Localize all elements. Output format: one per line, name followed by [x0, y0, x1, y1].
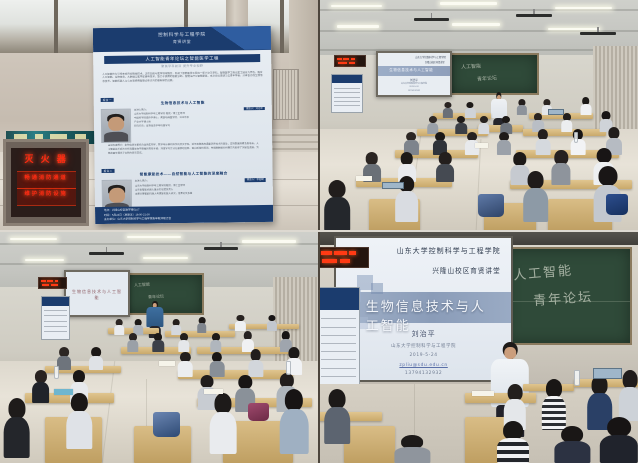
- notebook: [356, 176, 372, 182]
- slide-phone: 13794132932: [378, 90, 451, 92]
- ceiling-beam: [0, 263, 318, 265]
- bio-label: 主讲人简介：: [135, 179, 149, 183]
- fire-sign-title: 灭 火 器: [11, 152, 81, 165]
- notebook: [475, 143, 488, 148]
- student: [280, 389, 309, 454]
- ceiling-light: [440, 2, 498, 5]
- ceiling-light: [143, 257, 188, 260]
- student: [127, 333, 138, 352]
- poster-title: 人工智能青年论坛之智能医学工程: [104, 54, 261, 64]
- student: [210, 393, 237, 453]
- ceiling-light: [337, 25, 379, 28]
- projection-screen: 山东大学控制科学与工程学院 兴隆山校区育贤讲堂 生物信息技术与人工智能 刘治平 …: [376, 51, 453, 97]
- bio-line: 研究方向：生物信息学与机器学习: [134, 123, 265, 128]
- ceiling-beam: [318, 9, 638, 11]
- event-poster: 控制科学与工程学院 育贤讲堂 人工智能青年论坛之智能医学工程 聚焦学科前沿 提升…: [93, 25, 273, 224]
- notebook: [159, 361, 175, 366]
- water-bottle: [54, 366, 59, 380]
- student: [497, 132, 511, 155]
- body-text: 生物信息学是综合运用生物学、数学与计算机科学的交叉学科，近年来随着高通量测序技术…: [108, 142, 259, 154]
- section-tag: 报告二: [101, 168, 114, 172]
- slide-title: 生物信息技术与人工智能: [72, 289, 122, 296]
- blackboard-line1: 人工智能: [134, 282, 150, 289]
- blackboard-line2: 青年论坛: [148, 293, 164, 300]
- blackboard-line2: 青年论坛: [477, 74, 497, 82]
- poster-header: 控制科学与工程学院 育贤讲堂: [93, 25, 271, 51]
- student: [395, 435, 430, 463]
- student: [235, 315, 245, 331]
- ceiling-beam: [0, 243, 318, 245]
- ceiling-light: [127, 236, 181, 239]
- seat-back: [344, 426, 395, 463]
- student: [536, 129, 551, 154]
- slide-org-line2: 兴隆山校区育贤讲堂: [432, 265, 500, 275]
- fire-sign-line2: 维护消防设施: [17, 190, 76, 197]
- fire-extinguisher-cabinet: 灭 火 器 畅通消防通道 维护消防设施: [3, 139, 89, 227]
- poster-section: 报告一 生物信息技术与人工智能 主讲人简介： 报告人：刘治平 山东大学控制科学与…: [100, 85, 265, 155]
- ceiling-beam: [318, 49, 638, 51]
- led-row: 畅通消防通道: [17, 171, 76, 189]
- student: [436, 152, 454, 182]
- wall-poster: [318, 287, 360, 391]
- notebook: [472, 391, 494, 396]
- water-bottle: [286, 361, 291, 375]
- notebook: [54, 389, 73, 395]
- student: [67, 393, 92, 449]
- backpack: [153, 412, 180, 438]
- poster-header-line2: 育贤讲堂: [173, 39, 191, 45]
- window-mullion: [280, 0, 284, 53]
- ceiling-fan: [580, 32, 615, 35]
- slide-phone: 13794132932: [336, 371, 511, 376]
- student: [178, 352, 193, 378]
- ceiling-fan: [516, 14, 551, 17]
- slide-speaker: 刘治平: [336, 329, 511, 339]
- student: [478, 116, 490, 134]
- slide-org-line1: 山东大学控制科学与工程学院: [397, 246, 501, 256]
- backpack: [606, 194, 628, 215]
- student: [600, 417, 638, 463]
- collage-divider-horizontal: [0, 230, 638, 232]
- slide-affiliation: 山东大学控制科学与工程学院: [378, 82, 451, 85]
- ceiling-light: [331, 5, 382, 8]
- student: [571, 129, 586, 154]
- water-bottle: [574, 132, 578, 144]
- student: [542, 379, 566, 430]
- student: [197, 317, 207, 333]
- slide-date: 2019-5-24: [378, 86, 451, 88]
- student: [433, 132, 447, 155]
- student: [210, 333, 221, 352]
- photo-collage: 灭 火 器 畅通消防通道 维护消防设施 控制科学与工程学院 育贤讲堂 人工智能青…: [0, 0, 638, 463]
- radiator: [273, 69, 298, 120]
- laptop: [382, 182, 404, 189]
- student: [580, 97, 591, 115]
- laptop: [593, 368, 622, 380]
- slide-org-line2: 兴隆山校区育贤讲堂: [425, 60, 445, 64]
- blackboard-line1: 人工智能: [461, 63, 481, 71]
- led-marquee: [334, 55, 366, 67]
- slide-email: zpliu@sdu.edu.cn: [336, 363, 511, 368]
- student: [178, 333, 189, 352]
- student: [114, 319, 124, 335]
- led-row: 维护消防设施: [17, 188, 76, 206]
- student: [210, 352, 225, 378]
- ceiling-light: [242, 240, 296, 243]
- blackboard-track: [506, 301, 630, 302]
- speaker-bio: 主讲人简介： 报告人：刘治平 山东大学控制科学与工程学院 教授／博士生导师 中国…: [134, 106, 265, 142]
- photo-classroom-rear: 人工智能 青年论坛 山东大学控制科学与工程学院 兴隆山校区育贤讲堂 生物信息技术…: [318, 0, 638, 231]
- wall-poster: [41, 296, 70, 340]
- ceiling-light: [548, 28, 599, 31]
- led-marquee: [318, 247, 369, 268]
- photo-poster-lobby: 灭 火 器 畅通消防通道 维护消防设施 控制科学与工程学院 育贤讲堂 人工智能青…: [0, 0, 318, 231]
- slide-square: [371, 283, 383, 294]
- speaker-headshot: [101, 108, 131, 142]
- section-body: 主讲内容简介：生物信息学是综合运用生物学、数学与计算机科学的交叉学科，近年来随着…: [108, 142, 259, 155]
- laptop: [548, 109, 564, 116]
- student: [523, 171, 549, 222]
- slide-title: 生物信息技术与人工智能: [389, 68, 433, 73]
- student: [324, 180, 350, 231]
- slide-date: 2019-5-24: [336, 353, 511, 358]
- student: [443, 102, 453, 118]
- blackboard-line2: 青年论坛: [532, 286, 593, 309]
- ceiling-fan: [89, 252, 124, 255]
- student: [32, 370, 50, 402]
- speaker-chip: 报告人：刘治平: [244, 106, 265, 110]
- speaker-chip: 报告人：李贻斌: [245, 177, 266, 181]
- water-bottle: [574, 370, 580, 386]
- wall-poster: [331, 74, 363, 113]
- section-title: 智能康复技术——自然智能与人工智能的深度融合: [101, 170, 265, 177]
- ceiling-fan: [204, 247, 239, 250]
- blackboard: 人工智能 青年论坛: [504, 247, 632, 344]
- fire-sign-line1: 畅通消防通道: [17, 174, 76, 181]
- photo-speaker-closeup: 人工智能 青年论坛 山东大学控制科学与工程学院 兴隆山校区育贤讲堂 生物信息技术…: [318, 231, 638, 463]
- body-label: 主讲内容简介：: [108, 143, 125, 146]
- blackboard: 人工智能 青年论坛: [449, 53, 539, 95]
- ceiling-light: [452, 23, 500, 26]
- student: [552, 150, 571, 185]
- student: [497, 421, 529, 463]
- blackboard-line1: 人工智能: [512, 260, 573, 284]
- student: [3, 398, 30, 458]
- student: [267, 315, 277, 331]
- bio-label: 主讲人简介：: [134, 108, 148, 112]
- section-tag: 报告一: [101, 97, 114, 101]
- backpack: [478, 194, 504, 217]
- window-mullion: [54, 0, 58, 53]
- poster-footer: 地点：兴隆山校区教学楼5107 时间：5月24日（星期五）19:00-21:00…: [95, 205, 273, 224]
- section-title: 生物信息技术与人工智能: [101, 99, 265, 106]
- cabinet-glass: 灭 火 器 畅通消防通道 维护消防设施: [11, 148, 81, 217]
- notebook: [204, 389, 223, 395]
- student: [57, 347, 71, 370]
- slide-affiliation: 山东大学控制科学与工程学院: [336, 343, 511, 349]
- backpack: [248, 403, 269, 422]
- poster-abstract: 人工智能作为引领未来的战略性技术，正在加速与医学领域融合，形成了智能医学工程这一…: [102, 70, 262, 84]
- student: [555, 426, 590, 463]
- student: [404, 132, 418, 155]
- student: [324, 389, 350, 445]
- student: [153, 333, 164, 352]
- slide-org-line1: 山东大学控制科学与工程学院: [415, 55, 446, 59]
- projection-screen: 生物信息技术与人工智能: [64, 270, 131, 316]
- led-marquee: [38, 277, 67, 289]
- student: [516, 99, 526, 115]
- student: [248, 349, 263, 377]
- photo-classroom-lecture: 人工智能 青年论坛 生物信息技术与人工智能: [0, 231, 318, 463]
- poster-header-line1: 控制科学与工程学院: [158, 32, 206, 39]
- ceiling-light: [25, 259, 63, 262]
- student: [89, 347, 103, 370]
